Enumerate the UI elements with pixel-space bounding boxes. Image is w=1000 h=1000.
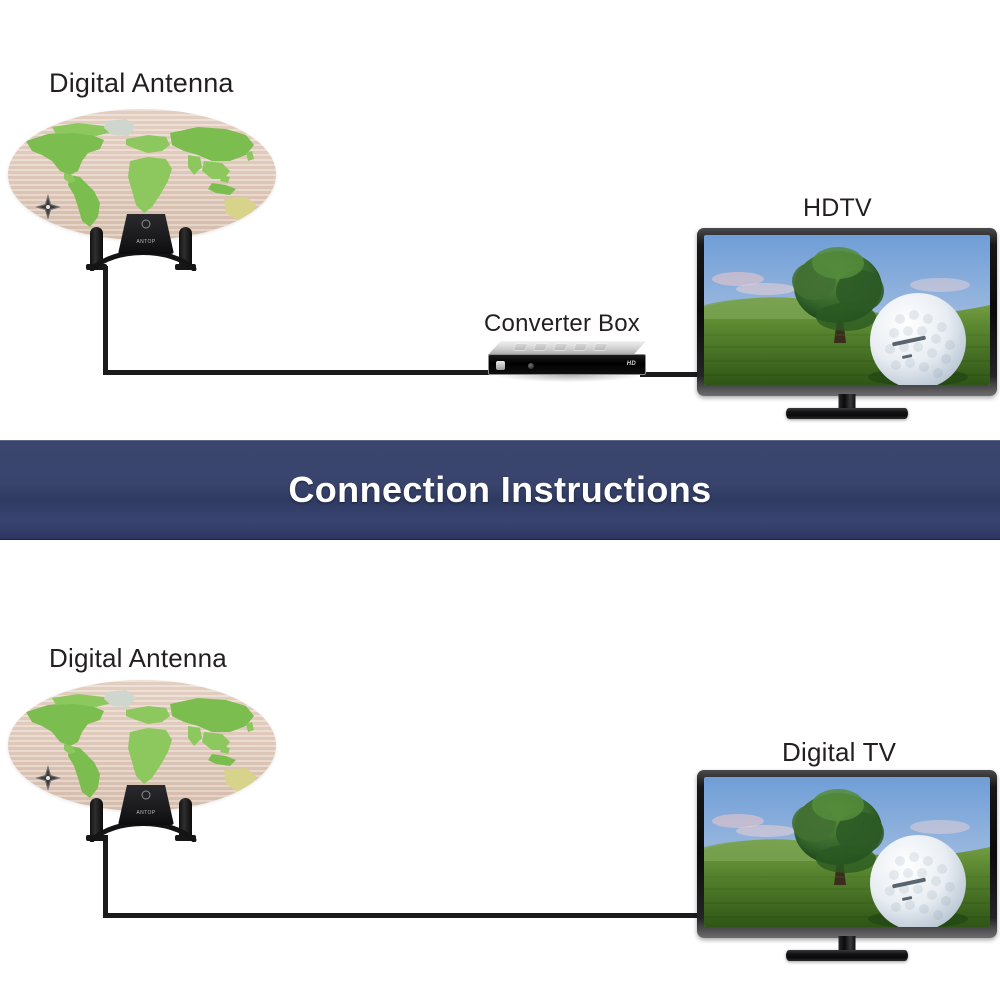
hdtv-stand-base <box>786 408 908 419</box>
converter-box-shadow <box>497 375 639 382</box>
converter-box: HD <box>488 341 646 387</box>
top-digital-antenna: ANTOP <box>8 109 276 274</box>
top-antenna-brand-text: ANTOP <box>136 239 155 245</box>
converter-box-brand-text: HD <box>627 361 636 367</box>
digital-tv-label: Digital TV <box>782 737 896 768</box>
bottom-antenna-cable-vertical <box>103 835 108 918</box>
bottom-digital-antenna: ANTOP <box>8 680 276 845</box>
bottom-antenna-brand-text: ANTOP <box>136 810 155 816</box>
connection-instructions-diagram: Digital Antenna <box>0 0 1000 1000</box>
top-converter-to-tv-cable <box>640 372 702 377</box>
hdtv-label: HDTV <box>803 194 872 223</box>
converter-box-ir-sensor <box>528 363 534 369</box>
bottom-antenna-base-unit: ANTOP <box>118 785 174 825</box>
bottom-antenna-label: Digital Antenna <box>49 643 227 674</box>
top-antenna-base-unit: ANTOP <box>118 214 174 254</box>
bottom-antenna-cable-horizontal <box>103 913 705 918</box>
top-antenna-compass-icon <box>35 194 61 220</box>
bottom-antenna-logo-mark <box>142 791 151 800</box>
bottom-antenna-compass-icon <box>35 765 61 791</box>
converter-box-power-button[interactable] <box>496 361 505 370</box>
top-antenna-logo-mark <box>142 220 151 229</box>
hdtv-screen <box>704 235 990 385</box>
digital-tv <box>697 770 997 960</box>
hdtv <box>697 228 997 418</box>
hdtv-bezel <box>697 228 997 396</box>
converter-box-label: Converter Box <box>484 310 640 338</box>
digital-tv-stand-base <box>786 950 908 961</box>
converter-box-front-panel: HD <box>488 354 646 375</box>
top-antenna-cable-horizontal <box>103 370 498 375</box>
digital-tv-bezel <box>697 770 997 938</box>
section-banner: Connection Instructions <box>0 440 1000 540</box>
top-antenna-cable-vertical <box>103 266 108 374</box>
top-antenna-label: Digital Antenna <box>49 68 234 99</box>
digital-tv-screen <box>704 777 990 927</box>
banner-title: Connection Instructions <box>288 469 711 511</box>
